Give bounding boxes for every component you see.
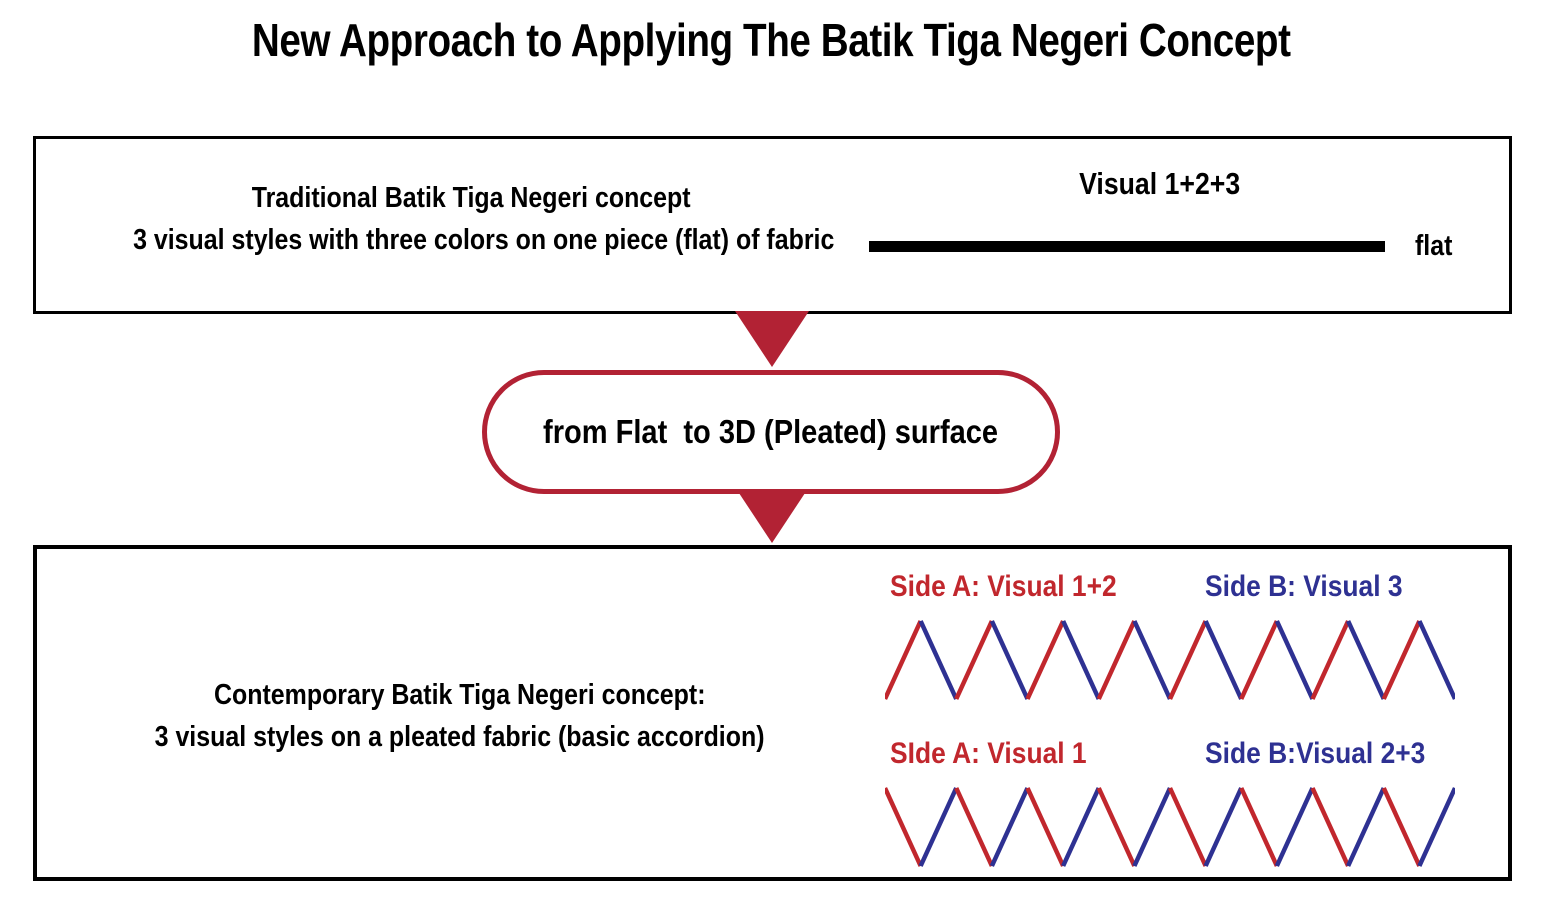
pleat-1-labels: Side A: Visual 1+2 Side B: Visual 3 xyxy=(855,567,1455,609)
zigzag-segment xyxy=(992,788,1028,866)
zigzag-segment xyxy=(1063,621,1099,699)
zigzag-segment xyxy=(1028,788,1064,866)
zigzag-segment xyxy=(1134,788,1170,866)
zigzag-segment xyxy=(1277,788,1313,866)
zigzag-segment xyxy=(1099,788,1135,866)
zigzag-segment xyxy=(1134,621,1170,699)
traditional-concept-panel: Traditional Batik Tiga Negeri concept 3 … xyxy=(33,136,1512,314)
zigzag-segment xyxy=(1099,621,1135,699)
zigzag-segment xyxy=(885,621,921,699)
zigzag-accordion-2 xyxy=(885,782,1455,872)
transition-pill: from Flat to 3D (Pleated) surface xyxy=(482,370,1060,494)
contemporary-concept-panel: Contemporary Batik Tiga Negeri concept: … xyxy=(33,545,1512,881)
zigzag-segment xyxy=(956,788,992,866)
arrow-down-icon-bottom xyxy=(735,487,809,543)
pleat-diagram-2: SIde A: Visual 1 Side B:Visual 2+3 xyxy=(855,734,1455,884)
visual-sum-label: Visual 1+2+3 xyxy=(902,165,1418,203)
zigzag-segment xyxy=(1313,788,1349,866)
zigzag-segment xyxy=(1241,621,1277,699)
zigzag-segment xyxy=(1277,621,1313,699)
zigzag-segment xyxy=(1170,621,1206,699)
zigzag-segment xyxy=(1348,788,1384,866)
arrow-down-icon-top xyxy=(735,311,809,367)
zigzag-segment xyxy=(1313,621,1349,699)
pleat-2-labels: SIde A: Visual 1 Side B:Visual 2+3 xyxy=(855,734,1455,776)
zigzag-accordion-1 xyxy=(885,615,1455,705)
pleat-2-side-a-label: SIde A: Visual 1 xyxy=(890,734,1113,774)
zigzag-segment xyxy=(885,788,921,866)
zigzag-segment xyxy=(1419,788,1455,866)
pleat-2-side-b-label: Side B:Visual 2+3 xyxy=(1205,734,1455,774)
zigzag-segment xyxy=(1170,788,1206,866)
zigzag-segment xyxy=(1063,788,1099,866)
pleat-1-side-b-label: Side B: Visual 3 xyxy=(1205,567,1430,607)
zigzag-segment xyxy=(1384,621,1420,699)
page-title: New Approach to Applying The Batik Tiga … xyxy=(0,12,1542,68)
zigzag-segment xyxy=(1241,788,1277,866)
transition-pill-label: from Flat to 3D (Pleated) surface xyxy=(512,412,1029,452)
traditional-concept-description: Traditional Batik Tiga Negeri concept 3 … xyxy=(76,177,866,261)
pleat-diagram-1: Side A: Visual 1+2 Side B: Visual 3 xyxy=(855,567,1455,717)
zigzag-segment xyxy=(1419,621,1455,699)
contemporary-concept-description: Contemporary Batik Tiga Negeri concept: … xyxy=(65,674,855,758)
zigzag-segment xyxy=(956,621,992,699)
zigzag-segment xyxy=(1206,621,1242,699)
zigzag-segment xyxy=(921,788,957,866)
zigzag-segment xyxy=(1384,788,1420,866)
contemporary-line-1: Contemporary Batik Tiga Negeri concept: xyxy=(65,674,855,716)
traditional-line-2: 3 visual styles with three colors on one… xyxy=(76,219,866,261)
zigzag-segment xyxy=(1028,621,1064,699)
page-title-text: New Approach to Applying The Batik Tiga … xyxy=(252,12,1291,68)
flat-label: flat xyxy=(1415,227,1459,265)
pleat-1-side-a-label: Side A: Visual 1+2 xyxy=(890,567,1148,607)
flat-fabric-bar-icon xyxy=(869,241,1385,252)
zigzag-segment xyxy=(992,621,1028,699)
zigzag-segment xyxy=(1206,788,1242,866)
contemporary-line-2: 3 visual styles on a pleated fabric (bas… xyxy=(65,716,855,758)
traditional-line-1: Traditional Batik Tiga Negeri concept xyxy=(76,177,866,219)
zigzag-segment xyxy=(1348,621,1384,699)
zigzag-segment xyxy=(921,621,957,699)
